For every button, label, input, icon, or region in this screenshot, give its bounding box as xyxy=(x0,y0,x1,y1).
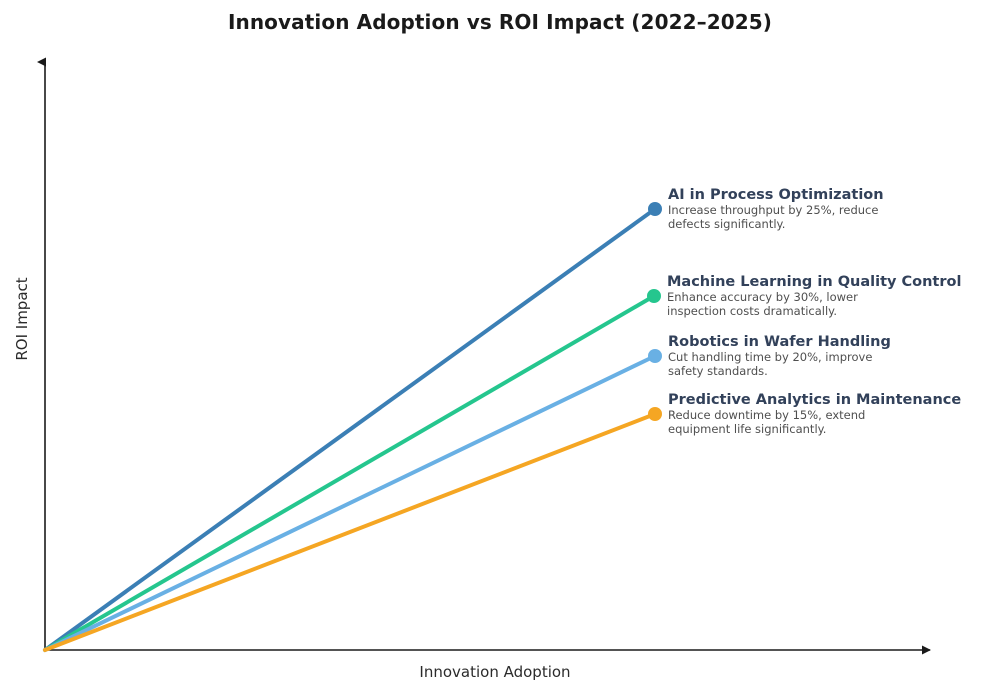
series-annotation: Robotics in Wafer HandlingCut handling t… xyxy=(668,334,891,378)
series-markers-group xyxy=(647,202,662,421)
series-endpoint-marker[interactable] xyxy=(648,349,662,363)
series-annotation-description: Cut handling time by 20%, improve safety… xyxy=(668,351,891,378)
series-annotation-description: Increase throughput by 25%, reduce defec… xyxy=(668,204,884,231)
series-lines-group xyxy=(45,209,655,650)
series-annotation: Machine Learning in Quality ControlEnhan… xyxy=(667,274,961,318)
series-line xyxy=(45,414,655,650)
series-annotation: AI in Process OptimizationIncrease throu… xyxy=(668,187,884,231)
x-axis-label: Innovation Adoption xyxy=(345,663,645,681)
chart-figure: Innovation Adoption vs ROI Impact (2022–… xyxy=(0,0,1000,700)
series-annotation-title: Machine Learning in Quality Control xyxy=(667,274,961,291)
series-annotation-title: Predictive Analytics in Maintenance xyxy=(668,392,961,409)
series-endpoint-marker[interactable] xyxy=(647,289,661,303)
series-annotation-title: Robotics in Wafer Handling xyxy=(668,334,891,351)
series-line xyxy=(45,356,655,650)
series-endpoint-marker[interactable] xyxy=(648,202,662,216)
series-annotation-description: Reduce downtime by 15%, extend equipment… xyxy=(668,409,961,436)
series-endpoint-marker[interactable] xyxy=(648,407,662,421)
series-annotation-title: AI in Process Optimization xyxy=(668,187,884,204)
y-axis-label: ROI Impact xyxy=(13,269,31,369)
series-annotation-description: Enhance accuracy by 30%, lower inspectio… xyxy=(667,291,961,318)
series-line xyxy=(45,296,654,650)
series-annotation: Predictive Analytics in MaintenanceReduc… xyxy=(668,392,961,436)
series-line xyxy=(45,209,655,650)
